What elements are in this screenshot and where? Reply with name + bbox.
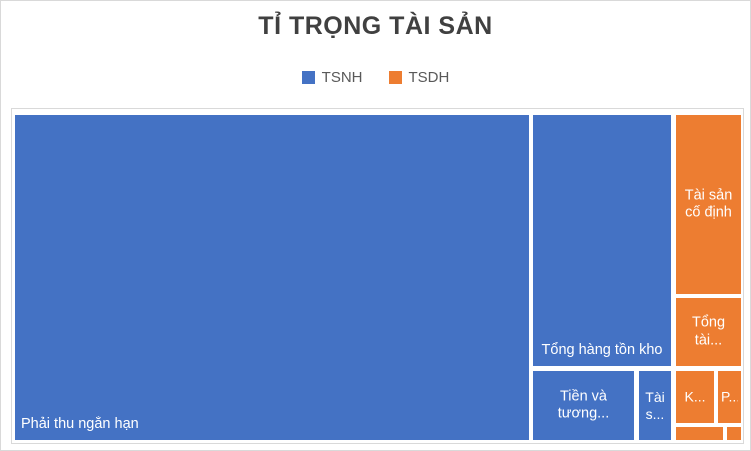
- treemap-tile-tai-san-co-dinh[interactable]: Tài sản cố định: [675, 114, 742, 295]
- treemap-tile-p[interactable]: P...: [717, 370, 742, 424]
- treemap-tile-tien-va-tuong-duong[interactable]: Tiền và tương...: [532, 370, 635, 441]
- treemap-tile-k[interactable]: K...: [675, 370, 715, 424]
- treemap-tile-square[interactable]: [726, 426, 742, 441]
- treemap-tile-strip[interactable]: [675, 426, 724, 441]
- treemap-tile-label-p: P...: [721, 388, 738, 405]
- treemap-tile-tong-tai-san-dai-han-khac[interactable]: Tổng tài...: [675, 297, 742, 367]
- chart-title: TỈ TRỌNG TÀI SẢN: [0, 12, 751, 41]
- treemap-tile-label-tong-tai-san-dai-han-khac: Tổng tài...: [679, 314, 738, 349]
- legend-swatch-tsnh: [302, 71, 315, 84]
- legend-item-tsdh[interactable]: TSDH: [389, 70, 450, 85]
- legend-swatch-tsdh: [389, 71, 402, 84]
- treemap-tile-label-tong-hang-ton-kho: Tổng hàng tồn kho: [536, 342, 668, 360]
- legend-label-tsdh: TSDH: [409, 70, 450, 85]
- treemap-plot-area: Phải thu ngắn hạn Tổng hàng tồn kho Tiền…: [11, 108, 744, 444]
- treemap-tile-label-phai-thu-ngan-han: Phải thu ngắn hạn: [21, 416, 525, 434]
- treemap-chart: TỈ TRỌNG TÀI SẢN TSNH TSDH Phải thu ngắn…: [0, 0, 751, 451]
- legend-item-tsnh[interactable]: TSNH: [302, 70, 363, 85]
- treemap-tile-label-k: K...: [679, 388, 711, 405]
- treemap-tile-label-tien-va-tuong-duong: Tiền và tương...: [536, 388, 631, 423]
- treemap-tile-tai-san-ngan-han-khac[interactable]: Tài s...: [638, 370, 672, 441]
- treemap-tile-label-tai-san-co-dinh: Tài sản cố định: [679, 187, 738, 222]
- treemap-tile-tong-hang-ton-kho[interactable]: Tổng hàng tồn kho: [532, 114, 672, 367]
- treemap-tile-phai-thu-ngan-han[interactable]: Phải thu ngắn hạn: [14, 114, 530, 441]
- legend-label-tsnh: TSNH: [322, 70, 363, 85]
- treemap-tile-label-tai-san-ngan-han-khac: Tài s...: [642, 388, 668, 422]
- chart-legend: TSNH TSDH: [0, 70, 751, 85]
